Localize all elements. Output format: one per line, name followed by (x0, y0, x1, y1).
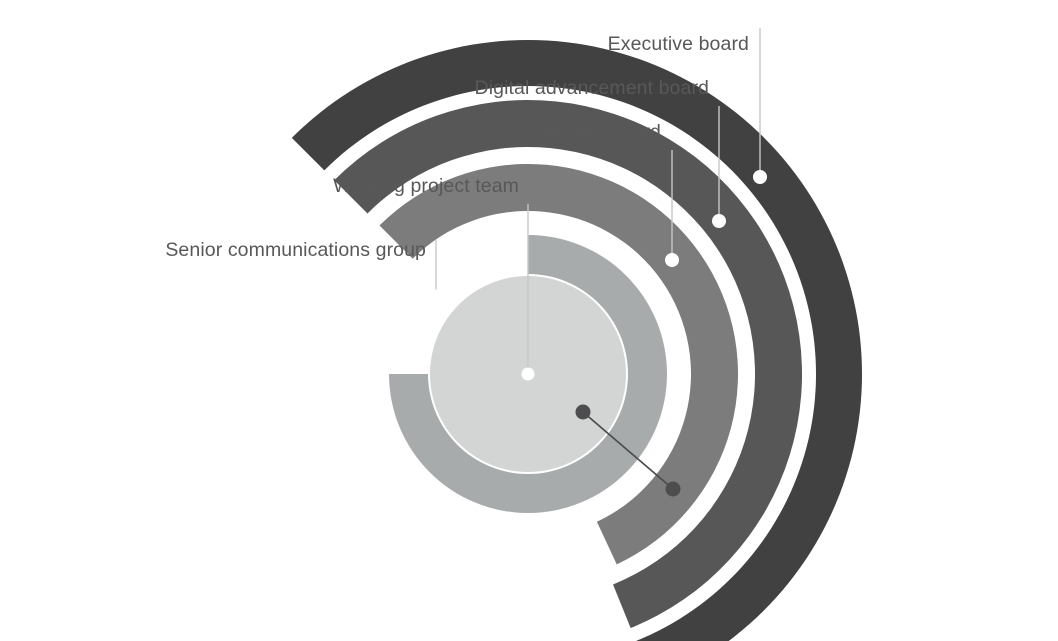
diagram-canvas: Working project teamSenior communication… (0, 0, 1058, 641)
label-senior-communications-group: Senior communications group (165, 239, 426, 261)
governance-rings-diagram: Working project teamSenior communication… (0, 0, 1058, 641)
node-dot-project-board[interactable] (665, 253, 679, 267)
label-project-board: Project board (544, 121, 661, 143)
connector-dot-end (666, 482, 681, 497)
connector-dot-start (576, 405, 591, 420)
node-dot-working-project-team[interactable] (522, 368, 535, 381)
label-executive-board: Executive board (608, 33, 749, 55)
node-dot-executive-board[interactable] (753, 170, 767, 184)
label-working-project-team: Working project team (333, 175, 519, 197)
node-dot-digital-advancement-board[interactable] (712, 214, 726, 228)
label-digital-advancement-board: Digital advancement board (475, 77, 709, 99)
node-dot-senior-communications-group[interactable] (430, 290, 443, 303)
